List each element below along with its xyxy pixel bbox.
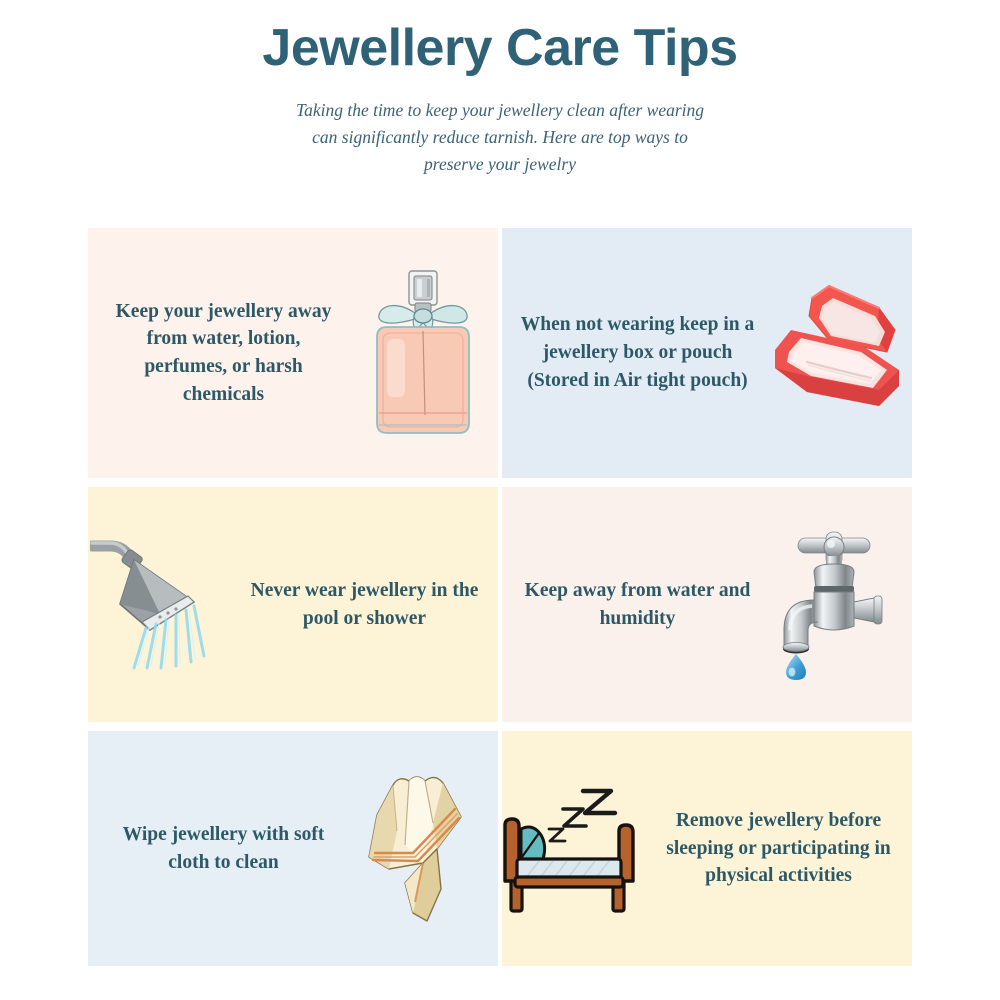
tip-card-text: When not wearing keep in a jewellery box… [514, 311, 761, 394]
tip-card-illustration [347, 228, 498, 478]
tip-card-wipe-with-cloth[interactable]: Wipe jewellery with soft cloth to clean [88, 731, 498, 966]
jewellery-ring-box-icon [767, 278, 907, 428]
perfume-bottle-icon [365, 265, 481, 441]
tip-card-illustration [88, 487, 241, 722]
cleaning-cloth-icon [363, 771, 483, 926]
page-subtitle: Taking the time to keep your jewellery c… [285, 97, 715, 177]
tips-grid: Keep your jewellery away from water, lot… [88, 228, 912, 966]
page-title: Jewellery Care Tips [0, 18, 1000, 79]
faucet-drip-icon [774, 530, 899, 680]
tip-card-illustration [347, 731, 498, 966]
tip-card-text: Keep away from water and humidity [514, 577, 761, 632]
tip-card-remove-before-sleep[interactable]: Remove jewellery before sleeping or part… [502, 731, 912, 966]
tip-card-no-pool-shower[interactable]: Never wear jewellery in the pool or show… [88, 487, 498, 722]
header: Jewellery Care Tips Taking the time to k… [0, 0, 1000, 177]
tip-card-illustration [761, 487, 912, 722]
tip-card-illustration [502, 731, 655, 966]
bed-sleep-icon [502, 781, 655, 916]
tip-card-text: Never wear jewellery in the pool or show… [241, 577, 488, 632]
tip-card-avoid-humidity[interactable]: Keep away from water and humidity [502, 487, 912, 722]
tip-card-text: Wipe jewellery with soft cloth to clean [100, 821, 347, 876]
tip-card-text: Keep your jewellery away from water, lot… [100, 298, 347, 409]
tip-card-illustration [761, 228, 912, 478]
tip-card-store-in-box[interactable]: When not wearing keep in a jewellery box… [502, 228, 912, 478]
infographic-page: Jewellery Care Tips Taking the time to k… [0, 0, 1000, 1000]
tip-card-text: Remove jewellery before sleeping or part… [655, 807, 902, 890]
shower-head-icon [90, 532, 240, 677]
tip-card-avoid-chemicals[interactable]: Keep your jewellery away from water, lot… [88, 228, 498, 478]
